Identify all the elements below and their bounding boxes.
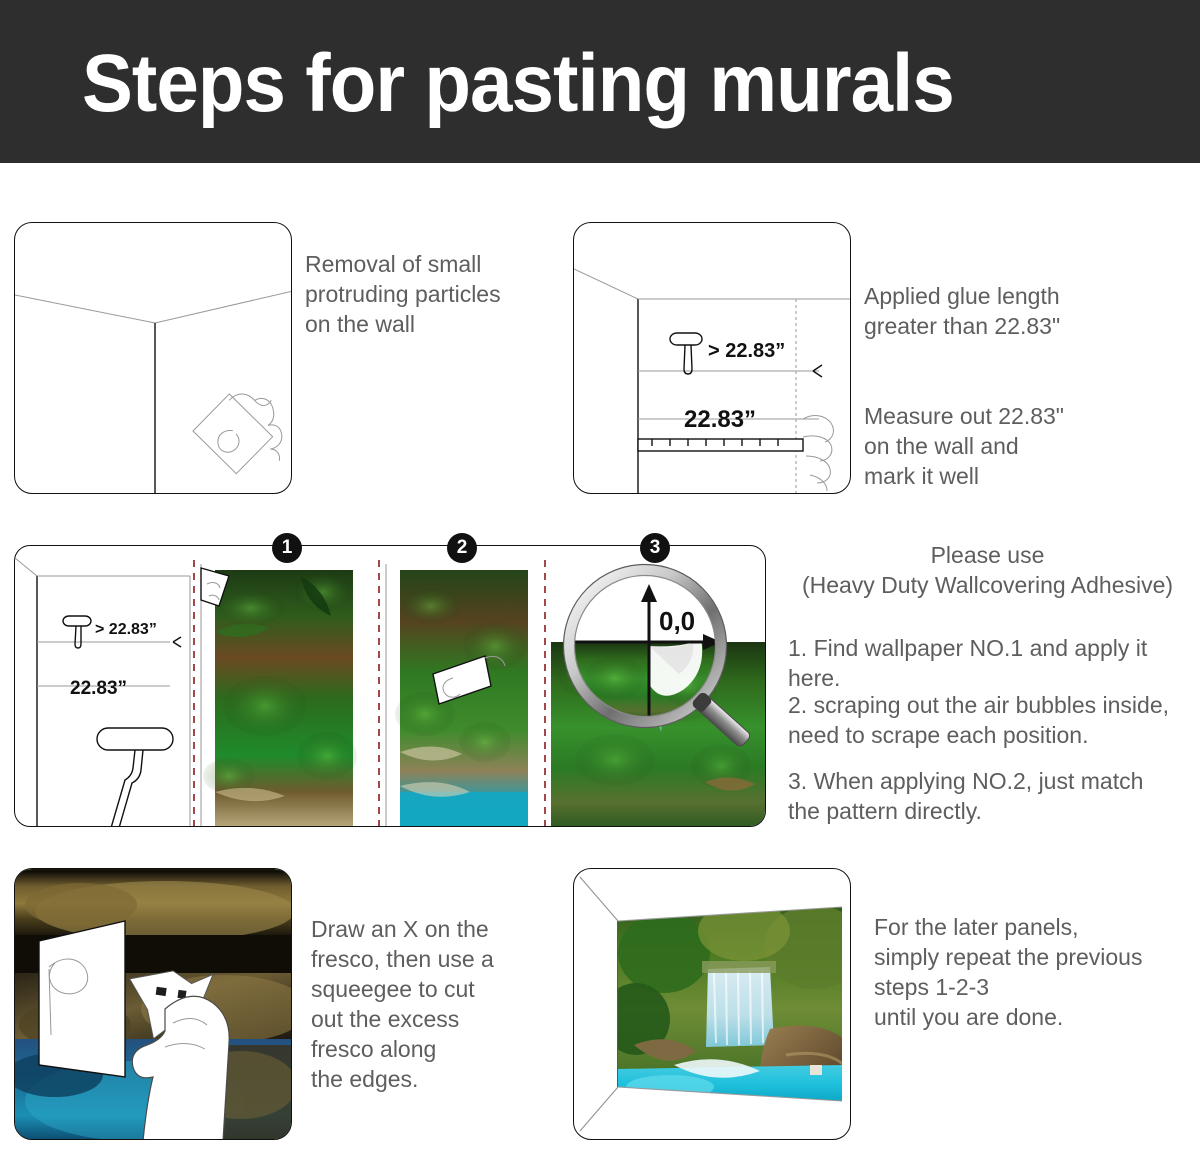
hand-icon [803, 416, 833, 491]
tape-measure-icon [638, 439, 803, 451]
wallpaper-strip-1 [201, 564, 357, 827]
panel-step4-cut-excess [14, 868, 292, 1140]
panel-step1-wall-corner [14, 222, 292, 494]
measure-label: 22.83” [684, 406, 756, 433]
adhesive-heading-line1: Please use [785, 540, 1190, 570]
panel-step3-apply-strips: > 22.83” 22.83” [14, 545, 766, 827]
arrow-right-icon [173, 637, 181, 647]
cut-excess-illustration [15, 869, 292, 1140]
step2-measure-caption: Measure out 22.83" on the wall and mark … [864, 401, 1194, 491]
step1-caption: Removal of small protruding particles on… [305, 249, 565, 339]
step3-instruction-2: 2. scraping out the air bubbles inside, … [788, 690, 1200, 750]
step4-caption: Draw an X on the fresco, then use a sque… [311, 914, 561, 1094]
finished-wall-illustration [574, 869, 851, 1140]
page-title: Steps for pasting murals [82, 36, 954, 132]
step-badge-3: 3 [640, 533, 670, 563]
wallpaper-strip-2 [386, 564, 528, 827]
glue-brush-icon [63, 616, 91, 648]
page-header: Steps for pasting murals [0, 0, 1200, 163]
step5-caption: For the later panels, simply repeat the … [874, 912, 1199, 1032]
glue-length-label: > 22.83” [708, 340, 785, 362]
step3-instruction-3: 3. When applying NO.2, just match the pa… [788, 766, 1200, 826]
panel-step5-finished-wall [573, 868, 851, 1140]
glue-length-label-wide: > 22.83” [95, 621, 157, 638]
origin-label: 0,0 [659, 606, 695, 636]
apply-strips-illustration: > 22.83” 22.83” [15, 546, 766, 827]
waterfall-mural [602, 899, 851, 1103]
step-badge-1: 1 [272, 533, 302, 563]
mural-sheet [39, 921, 125, 1077]
hand-icon [186, 382, 290, 483]
adhesive-heading-line2: (Heavy Duty Wallcovering Adhesive) [775, 570, 1200, 600]
step2-glue-caption: Applied glue length greater than 22.83" [864, 281, 1194, 341]
panel-step2-glue-measure: > 22.83” 22.83” [573, 222, 851, 494]
glue-brush-icon [670, 333, 702, 374]
step3-instruction-1: 1. Find wallpaper NO.1 and apply it here… [788, 633, 1200, 693]
paint-roller-icon [97, 728, 173, 827]
measure-label-wide: 22.83” [70, 678, 127, 699]
step-badge-2: 2 [447, 533, 477, 563]
glue-measure-illustration: > 22.83” 22.83” [574, 223, 851, 494]
wall-corner-illustration [15, 223, 292, 494]
